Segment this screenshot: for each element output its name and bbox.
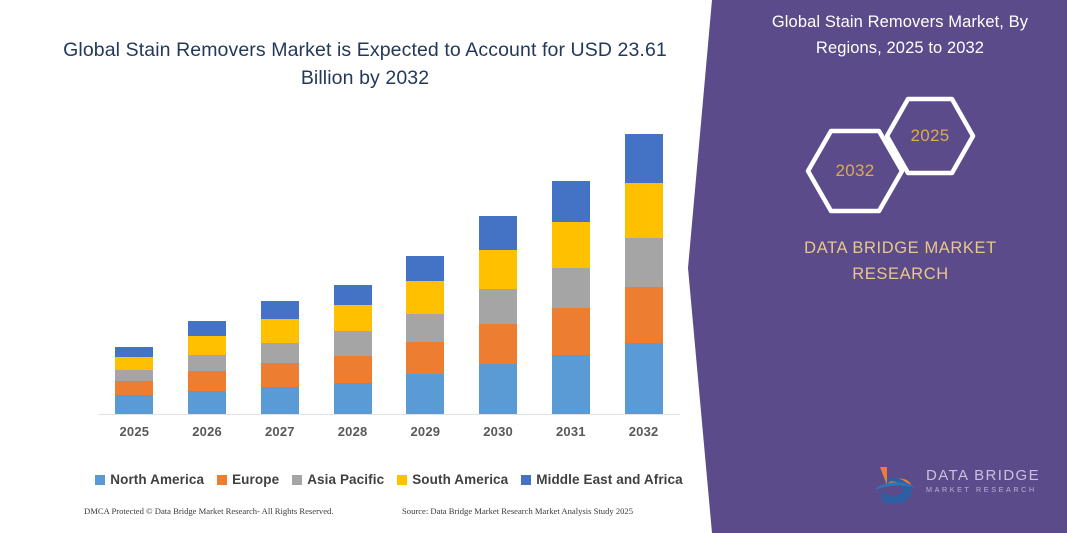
hexagon-label-2025: 2025 (884, 96, 976, 176)
bar-segment[interactable] (625, 238, 663, 287)
x-axis-label-2026: 2026 (171, 424, 244, 439)
bar-segment[interactable] (406, 314, 444, 343)
bar-group-2029[interactable] (406, 256, 444, 413)
plot-area (98, 120, 680, 415)
bar-segment[interactable] (625, 134, 663, 183)
bar-segment[interactable] (552, 355, 590, 414)
bar-segment[interactable] (261, 301, 299, 320)
bar-segment[interactable] (115, 381, 153, 395)
bar-segment[interactable] (479, 250, 517, 290)
logo-name: DATA BRIDGE (926, 467, 1054, 484)
bar-segment[interactable] (115, 370, 153, 381)
footer-source-text: Source: Data Bridge Market Research Mark… (402, 506, 633, 516)
bar-segment[interactable] (479, 289, 517, 323)
bar-segment[interactable] (261, 387, 299, 413)
bar-segment[interactable] (188, 336, 226, 355)
x-axis-label-2031: 2031 (535, 424, 608, 439)
chart-legend: North AmericaEuropeAsia PacificSouth Ame… (98, 472, 680, 487)
x-axis-label-2025: 2025 (98, 424, 171, 439)
bar-segment[interactable] (261, 319, 299, 343)
x-axis-labels: 20252026202720282029203020312032 (98, 424, 680, 444)
bar-group-2026[interactable] (188, 321, 226, 414)
bar-segment[interactable] (334, 331, 372, 355)
chart-panel: Global Stain Removers Market is Expected… (0, 0, 730, 533)
brand-name: DATA BRIDGE MARKET RESEARCH (773, 235, 1028, 287)
bar-segment[interactable] (188, 355, 226, 371)
bar-segment[interactable] (479, 364, 517, 413)
legend-label: Middle East and Africa (536, 472, 682, 487)
x-axis-label-2028: 2028 (316, 424, 389, 439)
bar-segment[interactable] (261, 343, 299, 363)
bar-segment[interactable] (625, 343, 663, 413)
bar-segment[interactable] (188, 321, 226, 336)
legend-item-middle-east-and-africa[interactable]: Middle East and Africa (521, 472, 682, 487)
bar-segment[interactable] (552, 222, 590, 268)
x-axis-label-2027: 2027 (244, 424, 317, 439)
bar-segment[interactable] (115, 395, 153, 413)
bar-group-2032[interactable] (625, 134, 663, 413)
bar-segment[interactable] (334, 285, 372, 305)
hexagon-badge-2025: 2025 (884, 96, 976, 176)
bar-segment[interactable] (625, 287, 663, 343)
bar-segment[interactable] (188, 391, 226, 414)
bar-group-2030[interactable] (479, 216, 517, 413)
bar-segment[interactable] (334, 383, 372, 414)
bar-segment[interactable] (261, 363, 299, 387)
bar-segment[interactable] (552, 181, 590, 221)
legend-label: South America (412, 472, 508, 487)
bar-group-2031[interactable] (552, 181, 590, 413)
footer-dmca-text: DMCA Protected © Data Bridge Market Rese… (84, 506, 402, 516)
legend-label: Asia Pacific (307, 472, 384, 487)
bar-segment[interactable] (188, 371, 226, 391)
legend-label: North America (110, 472, 204, 487)
data-bridge-b-logo-icon (874, 465, 920, 507)
logo-subtitle: MARKET RESEARCH (926, 484, 1054, 496)
footer: DMCA Protected © Data Bridge Market Rese… (84, 506, 684, 516)
bar-segment[interactable] (406, 342, 444, 374)
legend-item-north-america[interactable]: North America (95, 472, 204, 487)
bar-segment[interactable] (552, 308, 590, 355)
legend-swatch-icon (521, 475, 531, 485)
bar-group-2028[interactable] (334, 285, 372, 414)
legend-swatch-icon (95, 475, 105, 485)
legend-item-europe[interactable]: Europe (217, 472, 279, 487)
data-bridge-logo: DATA BRIDGE MARKET RESEARCH (874, 463, 1054, 509)
x-axis-label-2029: 2029 (389, 424, 462, 439)
legend-swatch-icon (397, 475, 407, 485)
bar-segment[interactable] (406, 281, 444, 314)
bar-group-2025[interactable] (115, 347, 153, 414)
bar-segment[interactable] (115, 347, 153, 357)
bar-segment[interactable] (479, 216, 517, 249)
bar-segment[interactable] (115, 357, 153, 370)
bar-segment[interactable] (406, 256, 444, 281)
x-axis-label-2032: 2032 (607, 424, 680, 439)
x-axis-line (98, 414, 680, 416)
panel-title: Global Stain Removers Market, By Regions… (750, 9, 1050, 61)
bar-segment[interactable] (334, 356, 372, 383)
x-axis-label-2030: 2030 (462, 424, 535, 439)
hexagon-badges: 2032 2025 (806, 96, 976, 206)
logo-wordmark: DATA BRIDGE MARKET RESEARCH (926, 467, 1054, 496)
legend-swatch-icon (292, 475, 302, 485)
bar-segment[interactable] (406, 374, 444, 413)
bar-segment[interactable] (552, 268, 590, 308)
branding-panel: Global Stain Removers Market, By Regions… (688, 0, 1067, 533)
page-title: Global Stain Removers Market is Expected… (60, 36, 670, 92)
stacked-bar-chart (98, 120, 680, 415)
legend-label: Europe (232, 472, 279, 487)
bar-segment[interactable] (479, 324, 517, 364)
legend-item-asia-pacific[interactable]: Asia Pacific (292, 472, 384, 487)
bar-group-2027[interactable] (261, 301, 299, 414)
bar-segment[interactable] (625, 183, 663, 238)
bar-segment[interactable] (334, 305, 372, 331)
legend-swatch-icon (217, 475, 227, 485)
legend-item-south-america[interactable]: South America (397, 472, 508, 487)
